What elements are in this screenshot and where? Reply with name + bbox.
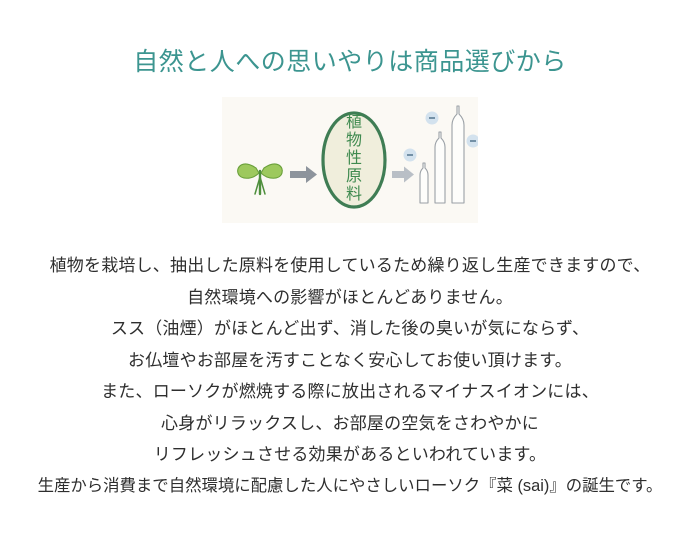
plant-material-oval: 植 物 性 原 料: [323, 112, 385, 207]
candle-large: [452, 106, 464, 203]
negative-ion-icon-1: [404, 149, 417, 162]
oval-label-char-2: 性: [346, 148, 362, 167]
negative-ion-icon-2: [426, 112, 439, 125]
candle-medium: [435, 132, 445, 203]
page-title: 自然と人への思いやりは商品選びから: [0, 45, 700, 79]
oval-label-char-1: 物: [346, 130, 362, 149]
oval-label-char-3: 原: [346, 166, 362, 185]
process-illustration: 植 物 性 原 料: [222, 97, 478, 223]
body-line-7: リフレッシュさせる効果があるといわれています。: [0, 439, 700, 471]
body-copy: 植物を栽培し、抽出した原料を使用しているため繰り返し生産できますので、 自然環境…: [0, 250, 700, 502]
process-illustration-svg: 植 物 性 原 料: [222, 97, 478, 223]
body-line-3: スス（油煙）がほとんど出ず、消した後の臭いが気にならず、: [0, 313, 700, 345]
product-info-page: 自然と人への思いやりは商品選びから 植: [0, 0, 700, 556]
oval-label-char-0: 植: [346, 112, 362, 131]
body-line-2: 自然環境への影響がほとんどありません。: [0, 282, 700, 314]
body-line-1: 植物を栽培し、抽出した原料を使用しているため繰り返し生産できますので、: [0, 250, 700, 282]
body-line-6: 心身がリラックスし、お部屋の空気をさわやかに: [0, 408, 700, 440]
body-line-5: また、ローソクが燃焼する際に放出されるマイナスイオンには、: [0, 376, 700, 408]
oval-label-char-4: 料: [346, 184, 362, 203]
body-line-4: お仏壇やお部屋を汚すことなく安心してお使い頂けます。: [0, 345, 700, 377]
body-line-8: 生産から消費まで自然環境に配慮した人にやさしいローソク『菜 (sai)』の誕生で…: [0, 471, 700, 503]
